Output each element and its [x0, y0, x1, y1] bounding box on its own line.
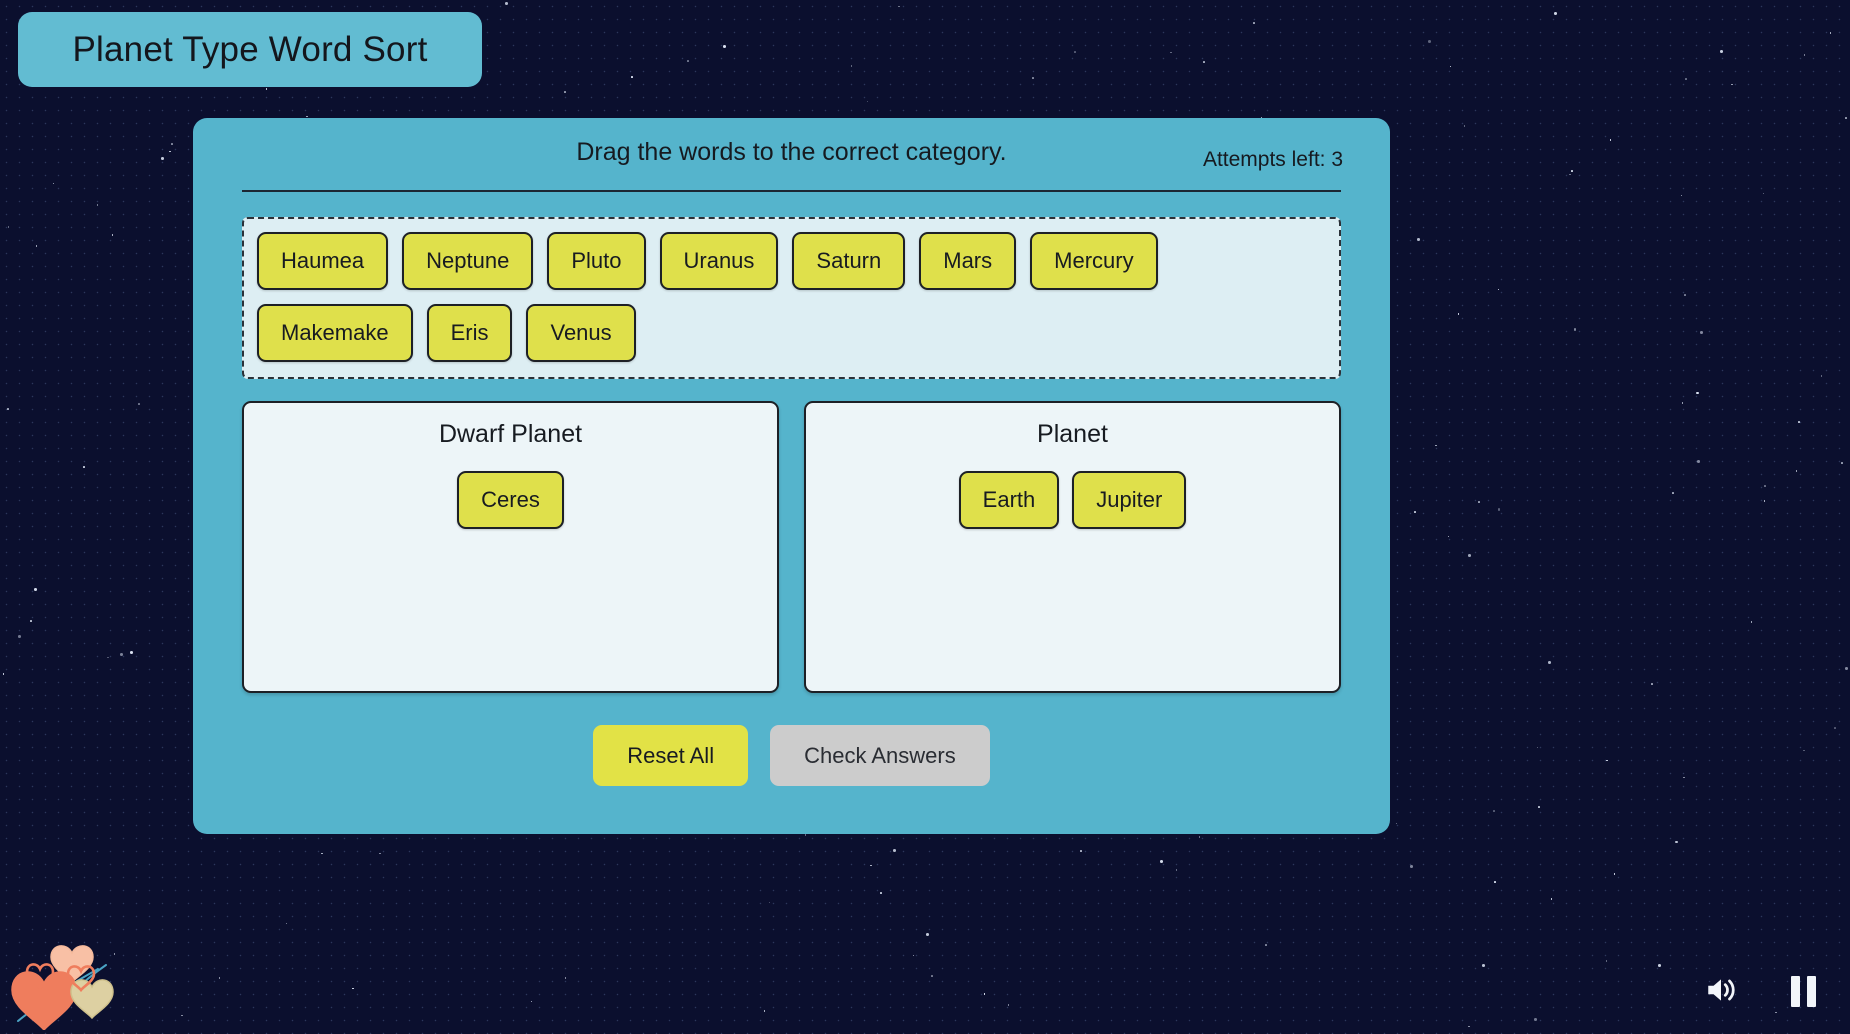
- instruction-text: Drag the words to the correct category.: [242, 138, 1341, 167]
- category-dropzone[interactable]: PlanetEarthJupiter: [804, 401, 1341, 693]
- pause-button[interactable]: [1774, 962, 1832, 1020]
- word-tile[interactable]: Ceres: [457, 471, 564, 529]
- pause-icon: [1791, 976, 1816, 1007]
- word-tile[interactable]: Mars: [919, 232, 1016, 290]
- check-answers-button[interactable]: Check Answers: [770, 725, 990, 786]
- word-tile[interactable]: Venus: [526, 304, 635, 362]
- panel-header: Drag the words to the correct category. …: [242, 118, 1341, 198]
- category-items: EarthJupiter: [820, 471, 1325, 529]
- header-divider: [242, 190, 1341, 192]
- category-dropzone[interactable]: Dwarf PlanetCeres: [242, 401, 779, 693]
- word-tile[interactable]: Pluto: [547, 232, 645, 290]
- category-items: Ceres: [258, 471, 763, 529]
- word-tile[interactable]: Mercury: [1030, 232, 1157, 290]
- category-title: Dwarf Planet: [258, 420, 763, 449]
- word-tile[interactable]: Haumea: [257, 232, 388, 290]
- word-tile[interactable]: Jupiter: [1072, 471, 1186, 529]
- word-tile[interactable]: Neptune: [402, 232, 533, 290]
- page-title-banner: Planet Type Word Sort: [18, 12, 482, 87]
- footer-actions: Reset All Check Answers: [242, 725, 1341, 786]
- word-tile[interactable]: Uranus: [660, 232, 779, 290]
- sound-toggle-button[interactable]: [1692, 962, 1750, 1020]
- speaker-on-icon: [1704, 973, 1738, 1010]
- reset-all-button[interactable]: Reset All: [593, 725, 748, 786]
- game-panel: Drag the words to the correct category. …: [193, 118, 1390, 834]
- category-zones: Dwarf PlanetCeresPlanetEarthJupiter: [242, 401, 1341, 693]
- word-tile[interactable]: Earth: [959, 471, 1060, 529]
- category-title: Planet: [820, 420, 1325, 449]
- word-tile[interactable]: Makemake: [257, 304, 413, 362]
- word-bank-dropzone[interactable]: HaumeaNeptunePlutoUranusSaturnMarsMercur…: [242, 217, 1341, 379]
- page-title: Planet Type Word Sort: [72, 30, 427, 70]
- attempts-left-label: Attempts left: 3: [1203, 148, 1343, 172]
- media-controls: [1692, 962, 1832, 1020]
- word-tile[interactable]: Eris: [427, 304, 513, 362]
- word-tile[interactable]: Saturn: [792, 232, 905, 290]
